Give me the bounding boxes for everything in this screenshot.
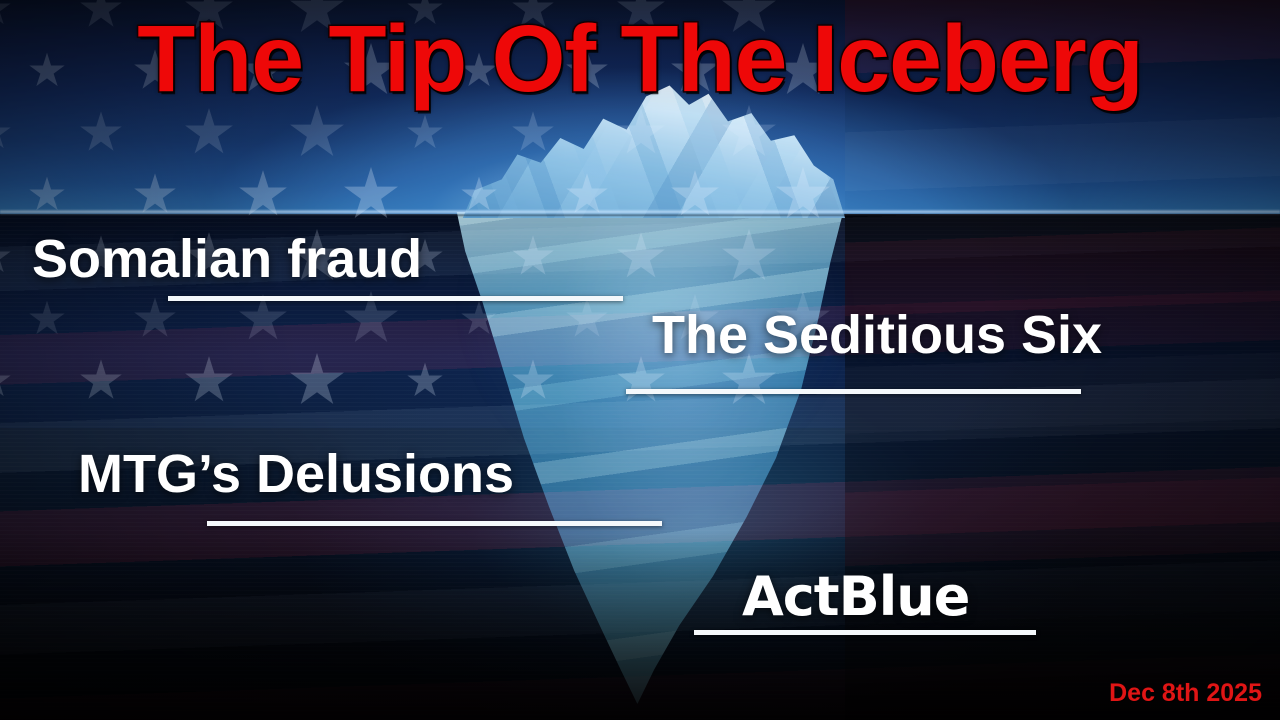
- flag-star-icon: [407, 115, 444, 152]
- page-title: The Tip Of The Iceberg: [0, 12, 1280, 107]
- flag-star-icon: [565, 173, 608, 216]
- flag-star-icon: [184, 108, 234, 158]
- flag-star-icon: [721, 105, 777, 161]
- flag-star-icon: [79, 111, 122, 154]
- underline-somalian-fraud: [168, 296, 623, 301]
- flag-star-icon: [461, 177, 498, 214]
- flag-star-icon: [238, 170, 288, 220]
- flag-star-icon: [29, 177, 66, 214]
- flag-star-icon: [616, 108, 666, 158]
- label-mtg-delusions: MTG’s Delusions: [78, 447, 514, 501]
- flag-star-icon: [133, 173, 176, 216]
- right-side-tint: [845, 214, 1280, 720]
- flag-star-icon: [670, 170, 720, 220]
- flag-star-icon: [0, 115, 11, 152]
- label-seditious-six: The Seditious Six: [652, 308, 1102, 362]
- flag-star-icon: [511, 111, 554, 154]
- flag-star-icon: [289, 105, 345, 161]
- underline-actblue: [694, 630, 1036, 635]
- label-somalian-fraud: Somalian fraud: [32, 232, 422, 286]
- underline-mtg-delusions: [207, 521, 662, 526]
- date-stamp: Dec 8th 2025: [1109, 679, 1262, 708]
- label-actblue: ActBlue: [742, 570, 969, 624]
- underline-seditious-six: [626, 389, 1081, 394]
- thumbnail-canvas: The Tip Of The Iceberg Somalian fraud Th…: [0, 0, 1280, 720]
